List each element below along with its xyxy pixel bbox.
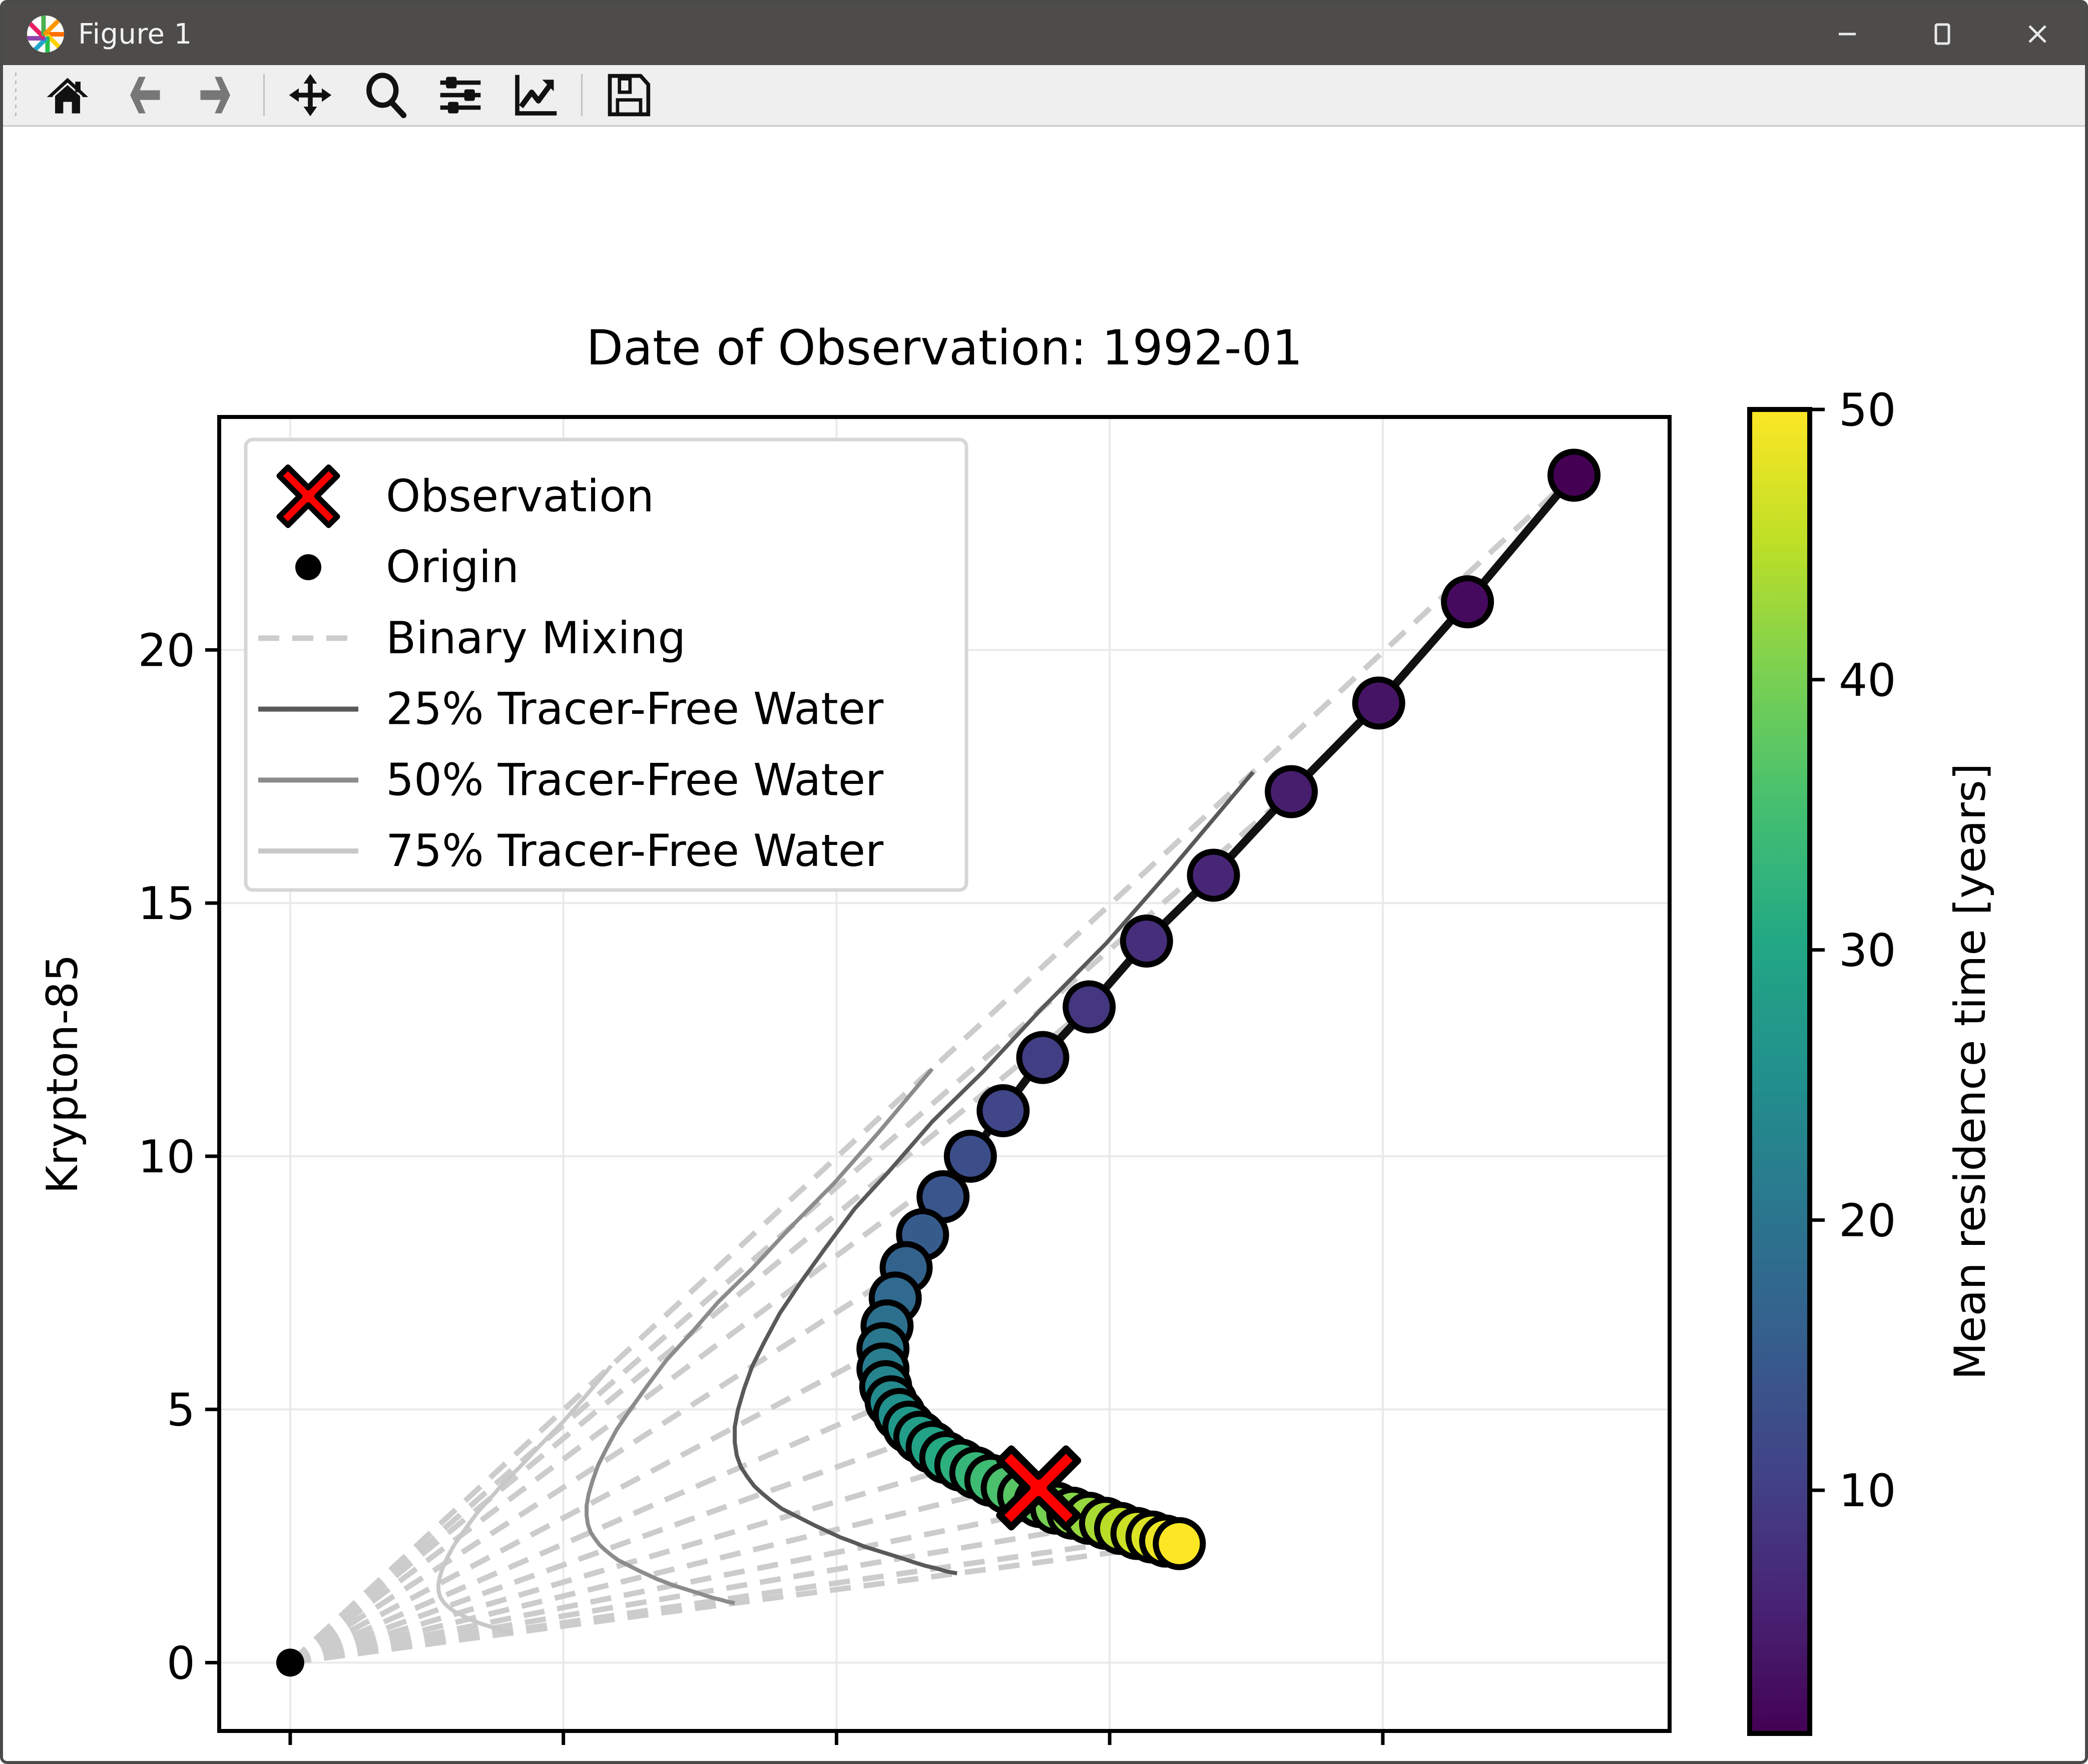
customize-button[interactable] (498, 68, 573, 123)
legend-label: 25% Tracer-Free Water (386, 683, 884, 735)
window-title: Figure 1 (78, 18, 192, 51)
legend: ObservationOriginBinary Mixing25% Tracer… (246, 439, 966, 890)
minimize-button[interactable] (1800, 3, 1895, 65)
subplots-button[interactable] (423, 68, 498, 123)
legend-label: Observation (386, 470, 654, 522)
forward-button[interactable] (180, 68, 255, 123)
x-tick-label: 0.8 (1347, 1759, 1418, 1762)
data-point (1123, 918, 1170, 965)
y-axis: 05101520Krypton-85 (38, 624, 219, 1689)
colorbar-label: Mean residence time [years] (1945, 763, 1995, 1380)
legend-label: 50% Tracer-Free Water (386, 754, 884, 805)
legend-label: Binary Mixing (386, 612, 686, 664)
y-tick-label: 10 (138, 1131, 195, 1183)
home-button[interactable] (30, 68, 105, 123)
save-button[interactable] (591, 68, 666, 123)
legend-origin-icon (295, 554, 321, 580)
data-point (1066, 983, 1113, 1030)
figure-window: Figure 1 (0, 0, 2088, 1764)
close-button[interactable] (1990, 3, 2085, 65)
matplotlib-icon (27, 16, 64, 53)
data-point (1156, 1520, 1203, 1567)
y-tick-label: 0 (167, 1637, 195, 1689)
y-tick-label: 15 (138, 877, 195, 930)
data-point (1019, 1034, 1066, 1081)
magnifier-icon (361, 71, 409, 119)
legend-label: 75% Tracer-Free Water (386, 825, 884, 876)
x-tick-label: 0.2 (528, 1759, 599, 1762)
floppy-disk-icon (604, 71, 652, 119)
arrow-left-icon (119, 71, 167, 119)
x-axis: 0.00.20.40.60.8Tritium (254, 1731, 1418, 1762)
colorbar: 1020304050Mean residence time [years] (1750, 384, 1995, 1733)
colorbar-tick-label: 40 (1839, 654, 1896, 707)
colorbar-tick-label: 50 (1839, 384, 1896, 436)
matplotlib-figure[interactable]: Date of Observation: 1992-010.00.20.40.6… (3, 127, 2085, 1762)
navigation-toolbar (3, 65, 2085, 127)
data-point (1355, 680, 1402, 727)
move-arrows-icon (286, 71, 334, 119)
data-point (1268, 768, 1315, 815)
x-tick-label: 0.0 (254, 1759, 326, 1762)
pan-button[interactable] (273, 68, 348, 123)
data-point (1444, 578, 1491, 625)
data-point (1190, 851, 1237, 899)
zoom-button[interactable] (348, 68, 423, 123)
colorbar-tick-label: 30 (1839, 925, 1896, 977)
toolbar-grip[interactable] (12, 73, 25, 118)
home-icon (44, 71, 92, 119)
y-tick-label: 5 (167, 1384, 195, 1437)
back-button[interactable] (105, 68, 180, 123)
sliders-icon (436, 71, 484, 119)
origin-marker (276, 1648, 304, 1676)
x-tick-label: 0.6 (1074, 1759, 1146, 1762)
window-titlebar: Figure 1 (3, 3, 2085, 65)
x-tick-label: 0.4 (801, 1759, 872, 1762)
window-controls (1800, 3, 2085, 65)
arrow-right-icon (194, 71, 242, 119)
colorbar-tick-label: 20 (1839, 1194, 1896, 1247)
toolbar-separator-2 (581, 74, 583, 116)
colorbar-tick-label: 10 (1839, 1465, 1896, 1517)
y-tick-label: 20 (138, 624, 195, 677)
data-point (1550, 452, 1598, 499)
y-axis-label: Krypton-85 (38, 954, 88, 1194)
chart-line-icon (511, 71, 560, 119)
chart-title: Date of Observation: 1992-01 (586, 320, 1303, 376)
data-point (979, 1087, 1026, 1134)
toolbar-separator (263, 74, 265, 116)
maximize-button[interactable] (1895, 3, 1990, 65)
figure-canvas[interactable]: Date of Observation: 1992-010.00.20.40.6… (3, 127, 2085, 1762)
legend-label: Origin (386, 541, 519, 593)
